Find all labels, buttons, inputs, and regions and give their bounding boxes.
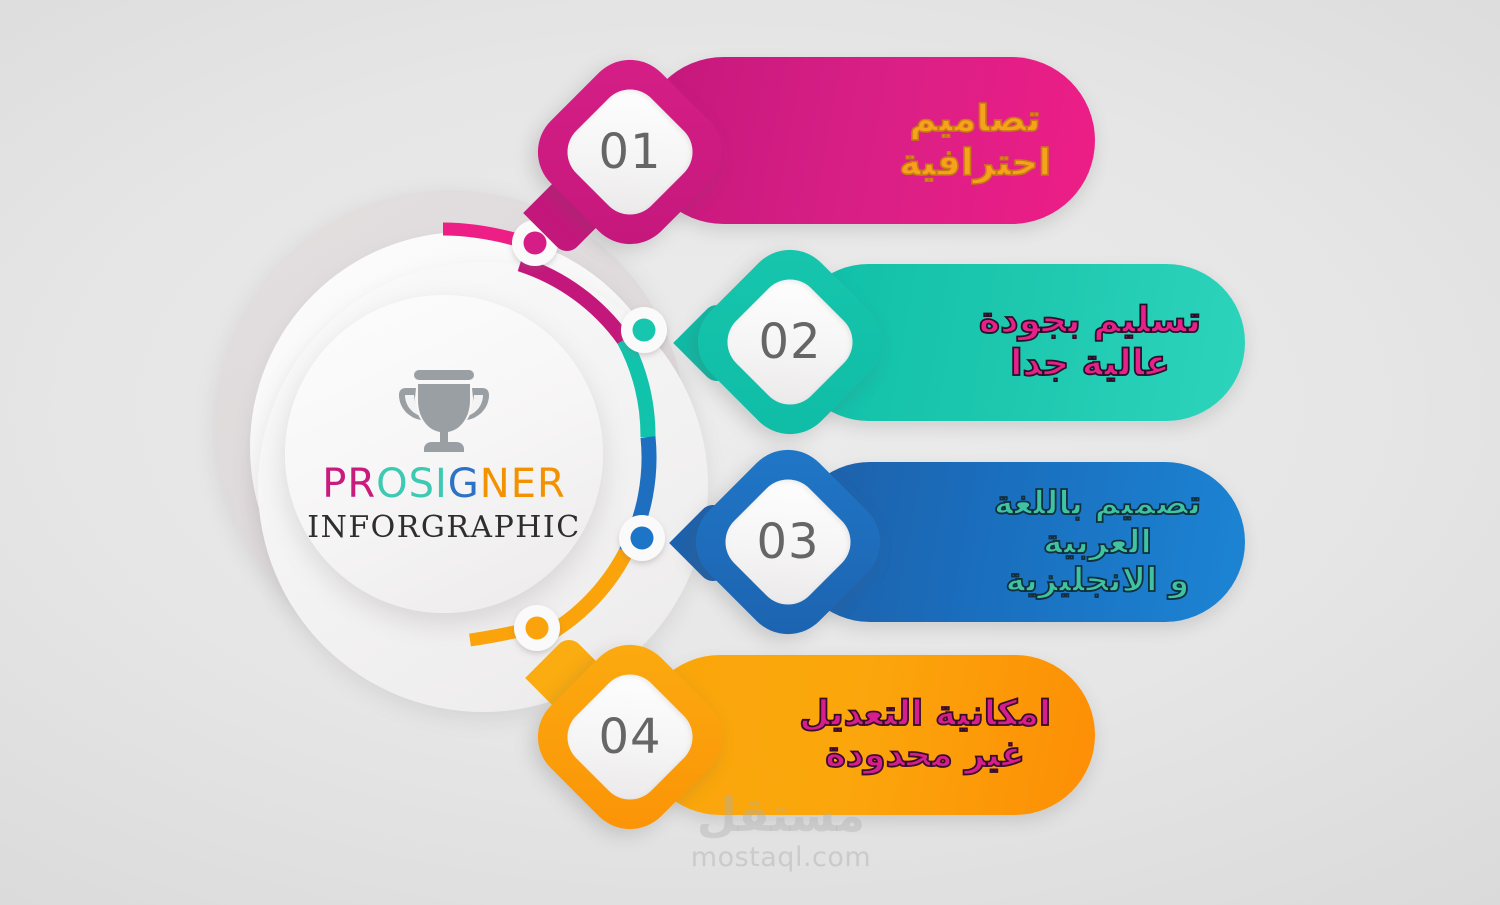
step-number-bubble-3[interactable]: 03 bbox=[688, 442, 888, 642]
logo-circle: PROSIGNER INFORGRAPHIC bbox=[285, 295, 603, 613]
step-number-label-4: 04 bbox=[530, 637, 730, 837]
step-banner-3-text: تصميم باللغة العربية و الانجليزية bbox=[994, 484, 1245, 601]
wordmark-part-osi: OSI bbox=[376, 461, 448, 507]
step-number-bubble-1[interactable]: 01 bbox=[530, 52, 730, 252]
wordmark-part-ner: NER bbox=[480, 461, 566, 507]
step-number-bubble-2[interactable]: 02 bbox=[690, 242, 890, 442]
step-number-label-2: 02 bbox=[690, 242, 890, 442]
trophy-icon bbox=[394, 364, 494, 454]
logo-wordmark: PROSIGNER bbox=[322, 464, 566, 504]
watermark-url: mostaql.com bbox=[636, 842, 926, 873]
logo-subtitle: INFORGRAPHIC bbox=[307, 510, 580, 545]
step-number-label-3: 03 bbox=[688, 442, 888, 642]
wordmark-part-pr: PR bbox=[322, 461, 376, 507]
wordmark-part-g: G bbox=[448, 461, 480, 507]
step-number-label-1: 01 bbox=[530, 52, 730, 252]
step-number-bubble-4[interactable]: 04 bbox=[530, 637, 730, 837]
step-banner-2-text: تسليم بجودة عالية جدا bbox=[979, 300, 1245, 385]
step-banner-1-text: تصاميم احترافية bbox=[899, 97, 1095, 184]
infographic-canvas: PROSIGNER INFORGRAPHIC bbox=[0, 0, 1500, 905]
step-banner-4-text: امكانية التعديل غير محدودة bbox=[799, 694, 1095, 777]
